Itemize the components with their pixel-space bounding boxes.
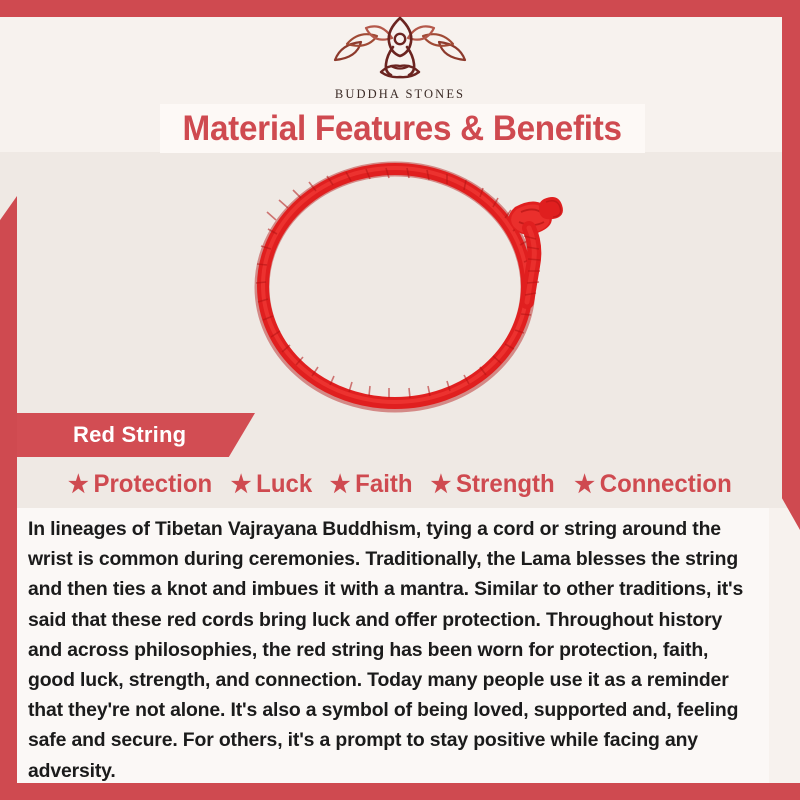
brand-name: BUDDHA STONES <box>0 87 800 102</box>
star-icon: ★ <box>231 473 252 497</box>
brand-logo: BUDDHA STONES <box>0 14 800 102</box>
star-icon: ★ <box>329 473 350 497</box>
star-icon: ★ <box>575 473 596 497</box>
star-icon: ★ <box>431 473 452 497</box>
page-title: Material Features & Benefits <box>183 111 622 146</box>
description-panel: In lineages of Tibetan Vajrayana Buddhis… <box>17 508 769 783</box>
lotus-meditation-icon <box>0 14 800 85</box>
benefit-item-luck: ★ Luck <box>231 470 312 499</box>
benefit-label: Strength <box>456 470 555 499</box>
section-ribbon-label: Red String <box>73 422 186 448</box>
benefit-item-faith: ★ Faith <box>329 470 412 499</box>
benefit-label: Connection <box>600 470 732 499</box>
benefit-item-protection: ★ Protection <box>68 470 212 499</box>
section-ribbon-red-string: Red String <box>17 413 255 457</box>
benefit-label: Faith <box>355 470 412 499</box>
benefit-label: Protection <box>93 470 212 499</box>
benefit-label: Luck <box>256 470 312 499</box>
benefit-item-strength: ★ Strength <box>431 470 555 499</box>
star-icon: ★ <box>68 473 89 497</box>
frame-accent-left <box>0 196 17 800</box>
product-photo-red-string-bracelet <box>17 152 783 418</box>
infographic-page: BUDDHA STONES Material Features & Benefi… <box>0 0 800 800</box>
benefits-list: ★ Protection ★ Luck ★ Faith ★ Strength ★… <box>17 463 783 505</box>
benefit-item-connection: ★ Connection <box>575 470 732 499</box>
description-body: In lineages of Tibetan Vajrayana Buddhis… <box>28 514 755 786</box>
page-title-band: Material Features & Benefits <box>160 104 645 153</box>
